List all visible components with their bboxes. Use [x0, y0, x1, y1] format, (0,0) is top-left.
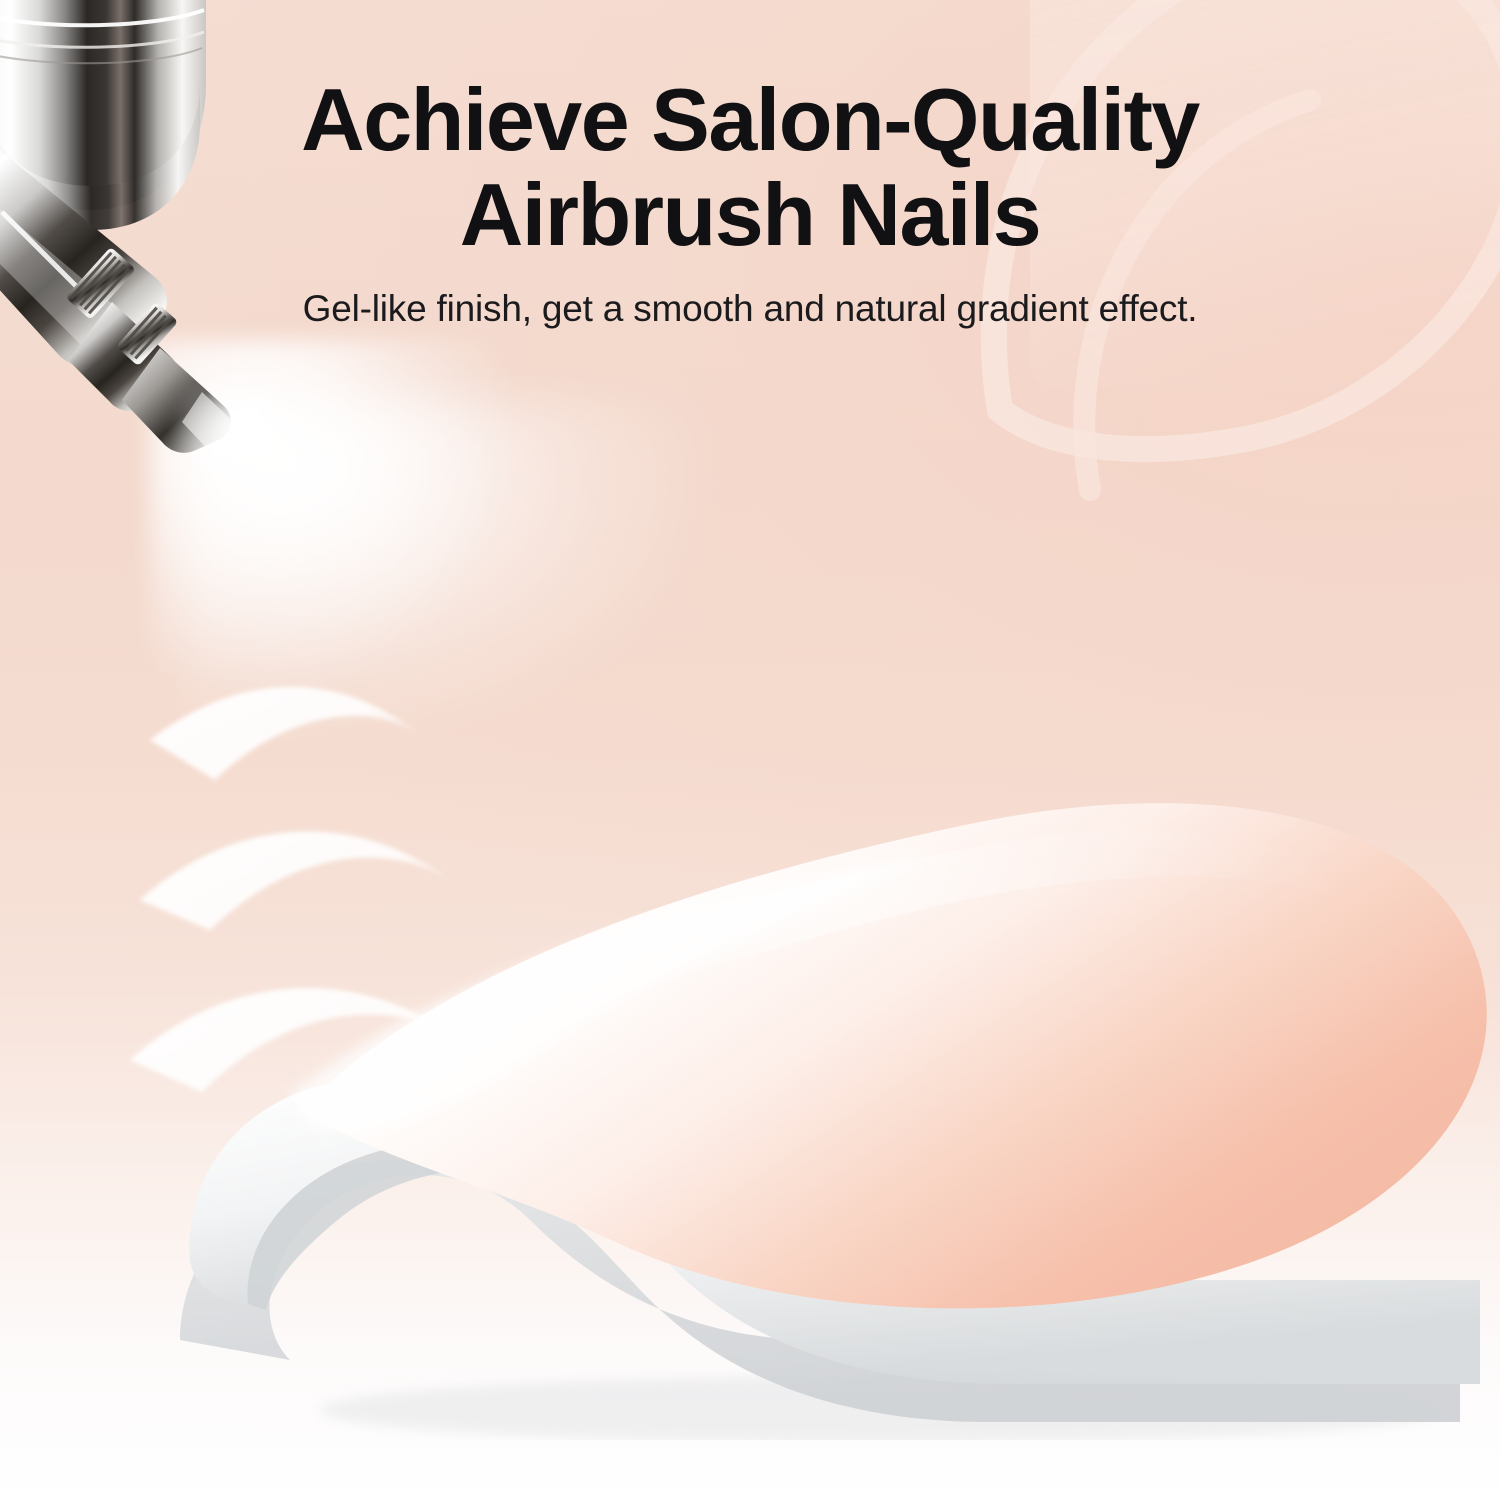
page-title-line-1: Achieve Salon-Quality: [60, 72, 1440, 167]
page-title-line-2: Airbrush Nails: [60, 167, 1440, 262]
subtitle: Gel-like finish, get a smooth and natura…: [60, 288, 1440, 330]
product-banner: Achieve Salon-Quality Airbrush Nails Gel…: [0, 0, 1500, 1500]
headline-block: Achieve Salon-Quality Airbrush Nails Gel…: [0, 72, 1500, 330]
